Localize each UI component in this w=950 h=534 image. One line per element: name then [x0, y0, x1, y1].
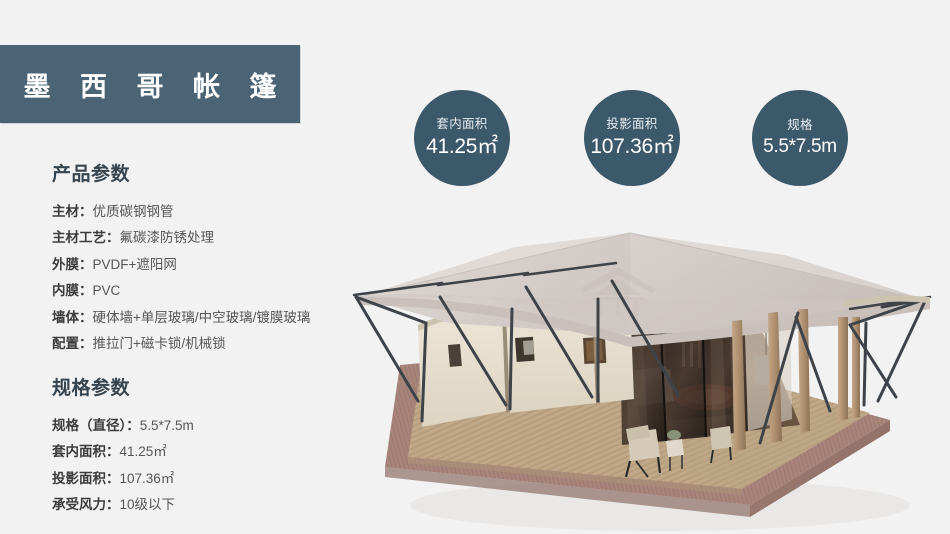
spec-value: 氟碳漆防锈处理	[120, 230, 215, 245]
badge-label: 规格	[787, 119, 813, 133]
spec-row: 墙体：硬体墙+单层玻璃/中空玻璃/镀膜玻璃	[52, 305, 352, 332]
product-params-list: 主材：优质碳钢钢管 主材工艺：氟碳漆防锈处理 外膜：PVDF+遮阳网 内膜：PV…	[52, 199, 352, 358]
spec-value: 推拉门+磁卡锁/机械锁	[93, 336, 226, 351]
spec-value: PVDF+遮阳网	[93, 257, 177, 272]
spec-value: 41.25㎡	[120, 444, 167, 459]
badge-value: 5.5*7.5m	[763, 137, 837, 157]
spec-label: 投影面积：	[52, 471, 120, 486]
spec-value: 5.5*7.5m	[140, 418, 194, 433]
page-root: 墨 西 哥 帐 篷 产品参数 主材：优质碳钢钢管 主材工艺：氟碳漆防锈处理 外膜…	[0, 0, 950, 534]
spec-label: 规格（直径）：	[52, 418, 140, 433]
badge-label: 投影面积	[606, 118, 657, 132]
spec-label: 主材：	[52, 204, 93, 219]
spec-row: 承受风力：10级以下	[52, 492, 352, 519]
spec-label: 配置：	[52, 336, 93, 351]
spec-row: 规格（直径）：5.5*7.5m	[52, 413, 352, 440]
spec-label: 承受风力：	[52, 497, 120, 512]
product-params-heading: 产品参数	[52, 164, 352, 187]
spec-row: 内膜：PVC	[52, 278, 352, 305]
spec-row: 套内面积：41.25㎡	[52, 439, 352, 466]
badge-label: 套内面积	[436, 118, 487, 132]
page-title: 墨 西 哥 帐 篷	[12, 65, 287, 104]
spec-label: 外膜：	[52, 257, 93, 272]
stat-badge-projected-area: 投影面积 107.36㎡	[584, 90, 680, 186]
badge-value: 41.25㎡	[426, 136, 498, 158]
tent-render-image	[330, 205, 950, 534]
spec-value: 107.36㎡	[120, 471, 175, 486]
badge-value: 107.36㎡	[590, 136, 673, 158]
spec-row: 主材：优质碳钢钢管	[52, 199, 352, 226]
stat-badge-dimensions: 规格 5.5*7.5m	[752, 90, 848, 186]
spec-value: 10级以下	[120, 497, 176, 512]
spec-value: 硬体墙+单层玻璃/中空玻璃/镀膜玻璃	[93, 310, 311, 325]
spec-value: 优质碳钢钢管	[93, 204, 174, 219]
spec-row: 主材工艺：氟碳漆防锈处理	[52, 225, 352, 252]
spec-label: 墙体：	[52, 310, 93, 325]
spec-row: 配置：推拉门+磁卡锁/机械锁	[52, 331, 352, 358]
specification-column: 产品参数 主材：优质碳钢钢管 主材工艺：氟碳漆防锈处理 外膜：PVDF+遮阳网 …	[52, 164, 352, 519]
page-title-banner: 墨 西 哥 帐 篷	[0, 45, 300, 123]
spec-params-list: 规格（直径）：5.5*7.5m 套内面积：41.25㎡ 投影面积：107.36㎡…	[52, 413, 352, 519]
section-divider	[52, 358, 352, 378]
spec-row: 投影面积：107.36㎡	[52, 466, 352, 493]
stat-badge-group: 套内面积 41.25㎡ 投影面积 107.36㎡ 规格 5.5*7.5m	[414, 90, 894, 190]
spec-label: 套内面积：	[52, 444, 120, 459]
spec-label: 内膜：	[52, 283, 93, 298]
spec-params-heading: 规格参数	[52, 378, 352, 401]
spec-label: 主材工艺：	[52, 230, 120, 245]
spec-value: PVC	[93, 283, 121, 298]
stat-badge-interior-area: 套内面积 41.25㎡	[414, 90, 510, 186]
spec-row: 外膜：PVDF+遮阳网	[52, 252, 352, 279]
